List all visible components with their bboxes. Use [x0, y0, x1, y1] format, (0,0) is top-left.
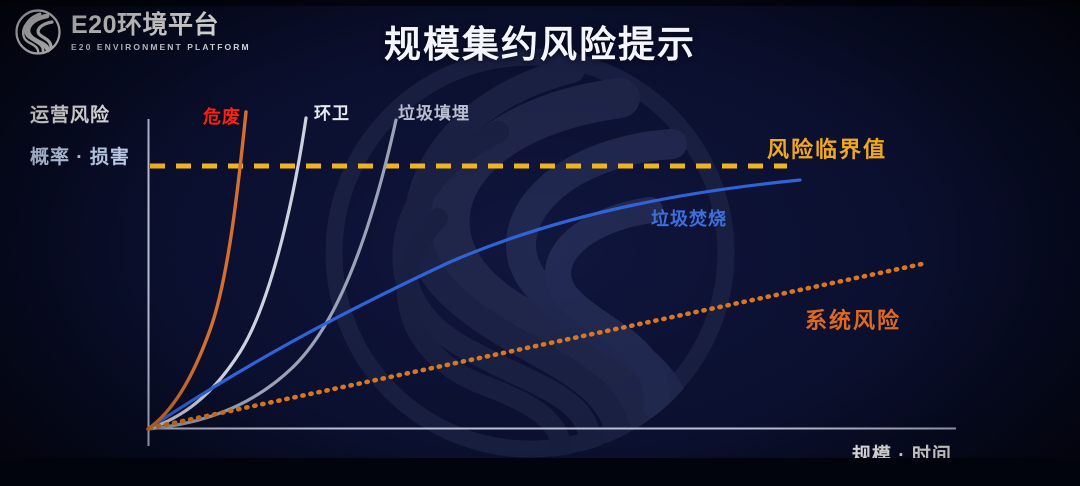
system-risk-label: 系统风险 [805, 303, 901, 335]
series-label-landfill: 垃圾填埋 [398, 99, 470, 124]
bottom-band [0, 458, 1080, 486]
series-label-incineration: 垃圾焚烧 [651, 205, 727, 231]
y-axis-label-primary: 运营风险 [30, 100, 110, 127]
slide-canvas: E20环境平台 E20 ENVIRONMENT PLATFORM 规模集约风险提… [0, 0, 1080, 486]
risk-chart [0, 0, 1080, 486]
series-label-sanitation: 环卫 [314, 99, 350, 124]
y-axis-label-secondary: 概率 · 损害 [30, 142, 130, 169]
series-label-hazardous-waste: 危废 [203, 103, 241, 129]
curve-hazardous-waste [148, 112, 246, 429]
curve-system-risk [150, 264, 922, 428]
risk-threshold-label: 风险临界值 [767, 132, 887, 164]
